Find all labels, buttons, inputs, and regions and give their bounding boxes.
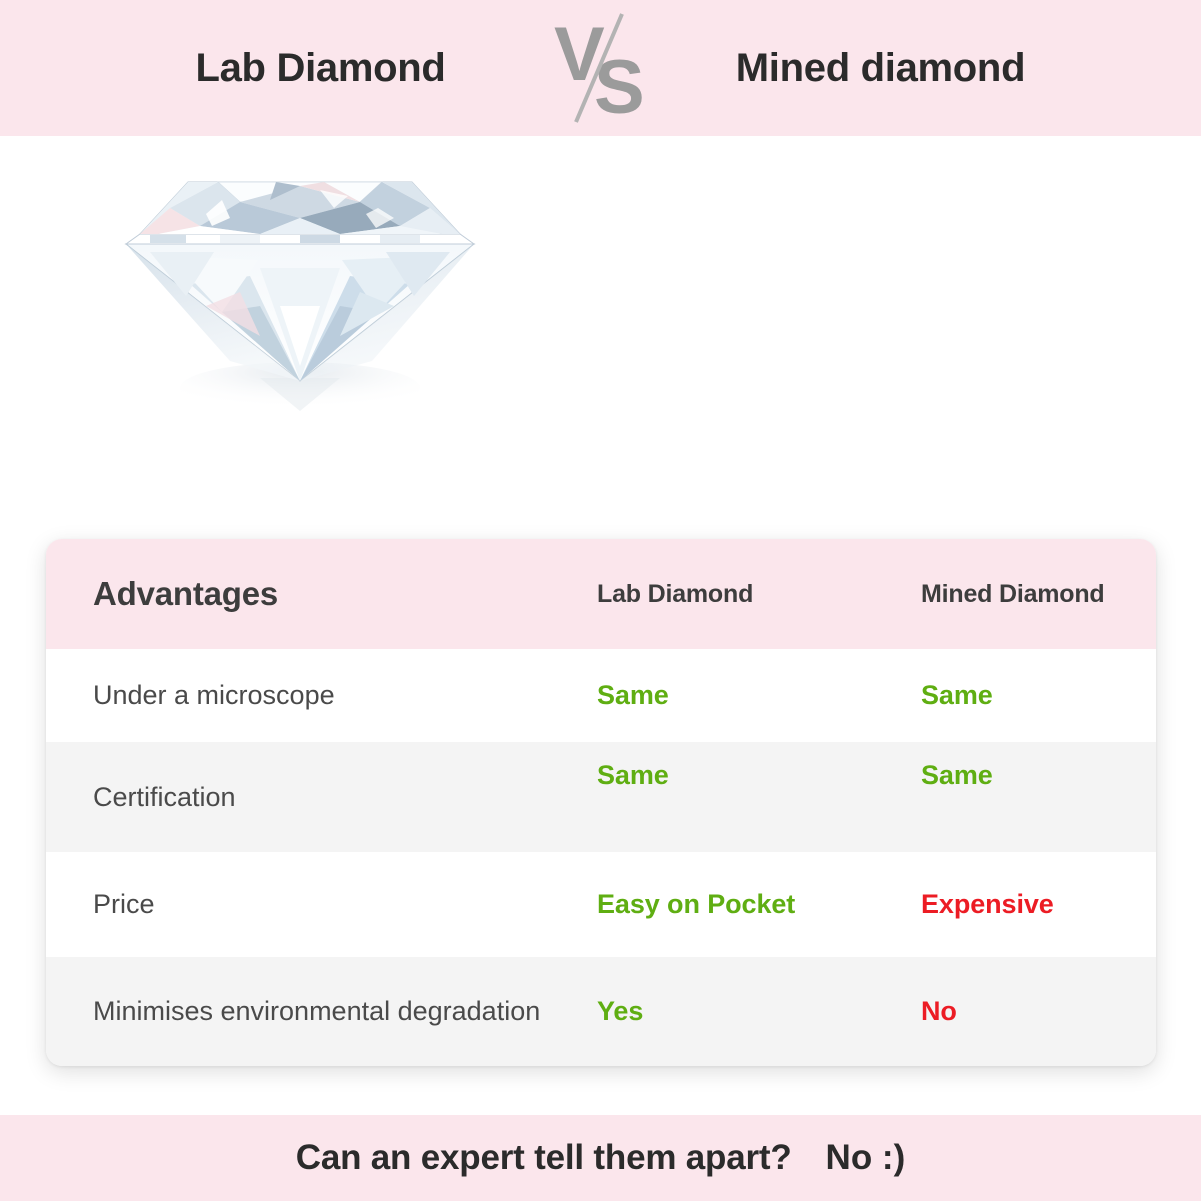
mined-value: Expensive xyxy=(921,889,1054,920)
cell-lab-value: Same xyxy=(541,742,871,852)
header-cell-advantages: Advantages xyxy=(46,539,541,649)
lab-value: Easy on Pocket xyxy=(597,889,795,920)
lab-value: Same xyxy=(597,760,669,791)
feature-label: Under a microscope xyxy=(93,676,335,714)
cell-feature: Price xyxy=(46,852,541,957)
lab-diamond-image xyxy=(0,136,600,536)
diamond-images-area xyxy=(0,136,1201,536)
lab-value: Yes xyxy=(597,996,643,1027)
table-row: Price Easy on Pocket Expensive xyxy=(46,852,1156,957)
footer-answer: No :) xyxy=(826,1138,906,1178)
cell-lab-value: Easy on Pocket xyxy=(541,852,871,957)
mined-value: Same xyxy=(921,680,993,711)
banner-inner: Lab Diamond V S Mined diamond xyxy=(0,8,1201,128)
cell-feature: Under a microscope xyxy=(46,649,541,742)
mined-diamond-image xyxy=(601,136,1201,536)
cell-mined-value: Same xyxy=(871,742,1156,852)
cell-feature: Minimises environmental degradation xyxy=(46,957,541,1066)
bottom-banner: Can an expert tell them apart? No :) xyxy=(0,1115,1201,1201)
cell-feature: Certification xyxy=(46,742,541,852)
table-header-row: Advantages Lab Diamond Mined Diamond xyxy=(46,539,1156,649)
table-row: Minimises environmental degradation Yes … xyxy=(46,957,1156,1066)
footer-question: Can an expert tell them apart? xyxy=(296,1138,792,1178)
mined-value: Same xyxy=(921,760,993,791)
cell-mined-value: No xyxy=(871,957,1156,1066)
cell-lab-value: Same xyxy=(541,649,871,742)
table-row: Under a microscope Same Same xyxy=(46,649,1156,742)
cell-lab-value: Yes xyxy=(541,957,871,1066)
comparison-table: Advantages Lab Diamond Mined Diamond Und… xyxy=(46,539,1156,1066)
top-banner: Lab Diamond V S Mined diamond xyxy=(0,0,1201,136)
feature-label: Minimises environmental degradation xyxy=(93,992,540,1030)
page-title-lab-diamond: Lab Diamond xyxy=(106,46,536,91)
table-row: Certification Same Same xyxy=(46,742,1156,852)
mined-value: No xyxy=(921,996,957,1027)
cell-mined-value: Expensive xyxy=(871,852,1156,957)
header-label-lab-diamond: Lab Diamond xyxy=(597,580,753,609)
feature-label: Certification xyxy=(93,778,236,816)
header-cell-lab-diamond: Lab Diamond xyxy=(541,539,871,649)
cell-mined-value: Same xyxy=(871,649,1156,742)
header-cell-mined-diamond: Mined Diamond xyxy=(871,539,1156,649)
feature-label: Price xyxy=(93,885,155,923)
versus-icon: V S xyxy=(536,8,666,128)
page-title-mined-diamond: Mined diamond xyxy=(666,46,1096,91)
header-label-mined-diamond: Mined Diamond xyxy=(921,580,1105,609)
header-label-advantages: Advantages xyxy=(93,575,278,613)
lab-value: Same xyxy=(597,680,669,711)
